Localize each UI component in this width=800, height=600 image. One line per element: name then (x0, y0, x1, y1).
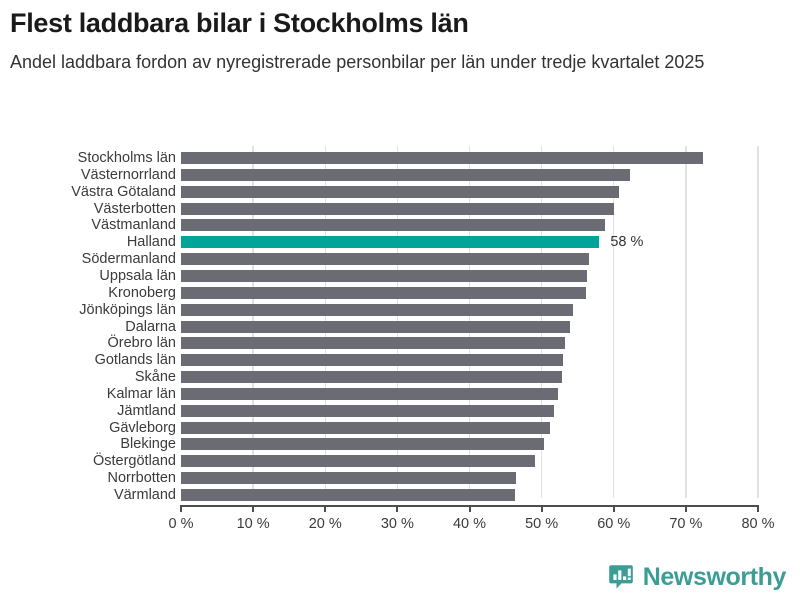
y-axis-label: Uppsala län (0, 269, 176, 284)
bar (181, 371, 562, 383)
x-axis-tick (252, 505, 254, 512)
x-axis-tick (180, 505, 182, 512)
y-axis-label: Kalmar län (0, 387, 176, 402)
bar (181, 455, 535, 467)
x-axis-tick (757, 505, 759, 512)
y-axis-label: Halland (0, 235, 176, 250)
bar-highlighted (181, 236, 599, 248)
y-axis-label: Västra Götaland (0, 185, 176, 200)
bar (181, 304, 573, 316)
chart-subtitle: Andel laddbara fordon av nyregistrerade … (10, 49, 790, 75)
bar (181, 253, 589, 265)
bar (181, 422, 550, 434)
x-axis-tick-label: 60 % (597, 516, 630, 532)
y-axis-label: Stockholms län (0, 151, 176, 166)
x-axis-tick-label: 70 % (669, 516, 702, 532)
chart-plot: Stockholms länVästernorrlandVästra Götal… (0, 140, 800, 540)
newsworthy-logo-icon (608, 564, 634, 590)
bar (181, 354, 563, 366)
x-axis-tick-label: 50 % (525, 516, 558, 532)
y-axis-label: Örebro län (0, 336, 176, 351)
chart-header: Flest laddbara bilar i Stockholms län An… (0, 0, 800, 75)
y-axis-label: Jönköpings län (0, 303, 176, 318)
x-axis-tick-label: 30 % (381, 516, 414, 532)
y-axis-label: Västmanland (0, 218, 176, 233)
y-axis-category-labels: Stockholms länVästernorrlandVästra Götal… (0, 140, 176, 498)
x-axis-tick-label: 20 % (309, 516, 342, 532)
y-axis-label: Västerbotten (0, 202, 176, 217)
x-axis-tick-label: 0 % (169, 516, 194, 532)
bar (181, 186, 619, 198)
x-axis-tick (324, 505, 326, 512)
x-axis-tick (685, 505, 687, 512)
x-axis-tick-label: 40 % (453, 516, 486, 532)
bar (181, 405, 554, 417)
gridline (757, 146, 758, 498)
y-axis-label: Blekinge (0, 437, 176, 452)
y-axis-label: Östergötland (0, 454, 176, 469)
bar (181, 152, 703, 164)
x-axis-tick (469, 505, 471, 512)
bar (181, 472, 516, 484)
bar (181, 438, 544, 450)
y-axis-label: Skåne (0, 370, 176, 385)
gridline (685, 146, 686, 498)
y-axis-label: Dalarna (0, 320, 176, 335)
page-title: Flest laddbara bilar i Stockholms län (10, 8, 790, 39)
bar (181, 337, 565, 349)
bar (181, 287, 586, 299)
bar (181, 388, 558, 400)
newsworthy-wordmark: Newsworthy (643, 565, 786, 590)
bar (181, 219, 605, 231)
x-axis-tick (396, 505, 398, 512)
y-axis-label: Jämtland (0, 404, 176, 419)
gridline (613, 146, 614, 498)
y-axis-label: Södermanland (0, 252, 176, 267)
y-axis-label: Norrbotten (0, 471, 176, 486)
footer-branding: Newsworthy (608, 564, 786, 590)
bar (181, 270, 587, 282)
bar (181, 169, 630, 181)
bars-container: 58 % (181, 140, 758, 498)
x-axis-tick (541, 505, 543, 512)
y-axis-label: Gotlands län (0, 353, 176, 368)
x-axis-tick (613, 505, 615, 512)
y-axis-label: Västernorrland (0, 168, 176, 183)
x-axis-tick-label: 80 % (741, 516, 774, 532)
bar (181, 489, 515, 501)
y-axis-label: Värmland (0, 488, 176, 503)
bar-value-label: 58 % (610, 236, 643, 248)
y-axis-label: Kronoberg (0, 286, 176, 301)
bar (181, 203, 614, 215)
bar (181, 321, 570, 333)
y-axis-label: Gävleborg (0, 421, 176, 436)
x-axis-tick-label: 10 % (237, 516, 270, 532)
